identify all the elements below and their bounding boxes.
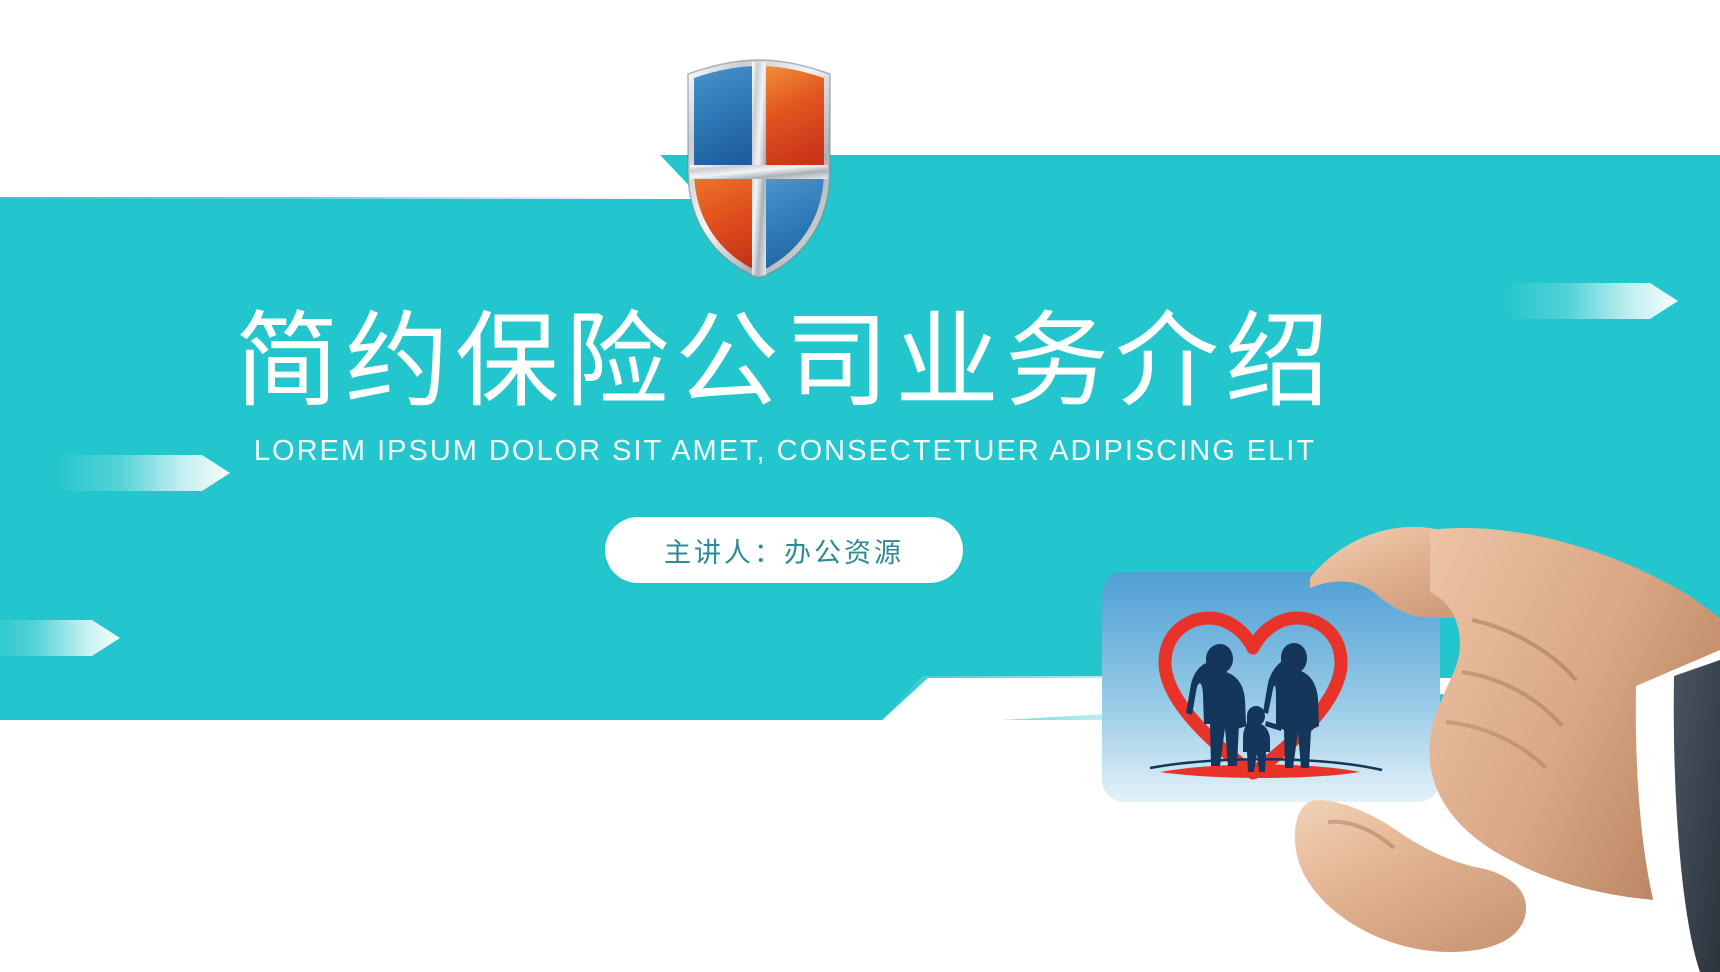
page-title: 简约保险公司业务介绍 <box>0 300 1570 423</box>
chevron-arrow-icon <box>0 620 120 656</box>
presentation-slide: 简约保险公司业务介绍 LOREM IPSUM DOLOR SIT AMET, C… <box>0 0 1720 972</box>
shield-icon <box>684 58 834 280</box>
sleeve-icon <box>1636 650 1720 972</box>
family-heart-card-icon <box>1102 572 1440 802</box>
speaker-badge[interactable]: 主讲人：办公资源 <box>605 517 963 583</box>
page-subtitle: LOREM IPSUM DOLOR SIT AMET, CONSECTETUER… <box>0 435 1570 468</box>
title-block: 简约保险公司业务介绍 LOREM IPSUM DOLOR SIT AMET, C… <box>0 300 1570 468</box>
band-top-gloss-strip <box>0 155 700 199</box>
chevron-arrow-shape <box>0 620 120 656</box>
speaker-label: 主讲人：办公资源 <box>664 531 904 570</box>
hand-holding-card-icon <box>1010 500 1720 972</box>
